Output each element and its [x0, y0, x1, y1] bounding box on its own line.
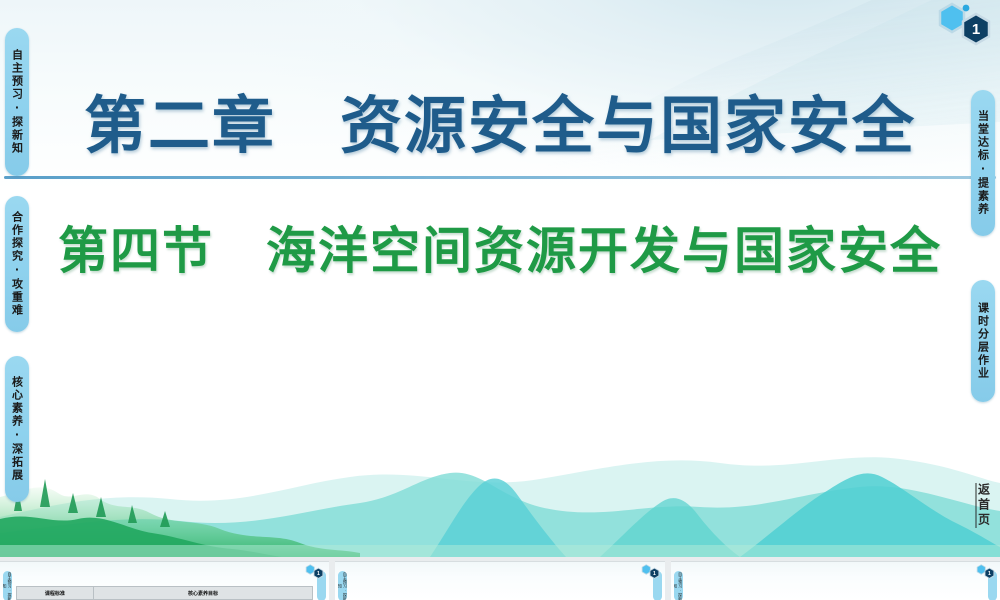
slide-thumbnail[interactable]: 自主预习·探新知 1 课程标准 核心素养目标: [0, 561, 329, 600]
thumb-sidebar-tab: 自主预习·探新知: [338, 571, 347, 600]
thumb-table-header-1: 课程标准: [17, 587, 94, 599]
thumb-sidebar-label: 自主预习·探新知: [338, 571, 347, 600]
sidebar-item-label: 合作探究·攻重难: [11, 211, 24, 317]
sidebar-item-label: 核心素养·深拓展: [11, 376, 24, 482]
slide-number-hex-badge: 1: [932, 2, 994, 46]
thumb-sidebar-tab: 自主预习·探新知: [3, 571, 12, 600]
slide-thumbnail[interactable]: 自主预习·探新知 1: [671, 561, 1000, 600]
thumb-table-header-2: 核心素养目标: [94, 587, 313, 599]
sidebar-item-homework[interactable]: 课时分层作业: [971, 280, 995, 402]
sidebar-item-preview[interactable]: 自主预习·探新知: [5, 28, 29, 176]
thumb-slide-number: 1: [317, 571, 320, 577]
slide-number-text: 1: [972, 21, 980, 38]
next-slide-strip: 自主预习·探新知 1 课程标准 核心素养目标 自主预习·探新知 1: [0, 557, 1000, 600]
sidebar-item-label: 当堂达标·提素养: [977, 110, 990, 216]
thumb-hex-badge: 1: [974, 564, 996, 579]
slide-thumbnail[interactable]: 自主预习·探新知 1: [335, 561, 664, 600]
thumb-sidebar-tab: 自主预习·探新知: [674, 571, 683, 600]
sidebar-item-inquiry[interactable]: 合作探究·攻重难: [5, 196, 29, 332]
thumb-hex-badge: 1: [303, 564, 325, 579]
thumb-table: 课程标准 核心素养目标: [16, 586, 313, 600]
sidebar-item-literacy[interactable]: 核心素养·深拓展: [5, 356, 29, 502]
watercolor-mountain-footer: [0, 407, 1000, 557]
current-slide: 1 第二章 资源安全与国家安全 第四节 海洋空间资源开发与国家安全: [0, 0, 1000, 557]
thumb-sidebar-label: 自主预习·探新知: [3, 571, 12, 600]
back-to-home-link[interactable]: 返首页: [971, 470, 995, 540]
back-to-home-label: 返首页: [977, 483, 990, 528]
thumb-slide-number: 1: [653, 571, 656, 577]
thumb-hex-badge: 1: [639, 564, 661, 579]
thumb-sidebar-label: 自主预习·探新知: [674, 571, 683, 600]
presentation-viewer: 1 第二章 资源安全与国家安全 第四节 海洋空间资源开发与国家安全: [0, 0, 1000, 600]
sidebar-item-label: 自主预习·探新知: [11, 49, 24, 155]
sidebar-item-assessment[interactable]: 当堂达标·提素养: [971, 90, 995, 236]
title-divider: [4, 176, 996, 179]
chapter-title: 第二章 资源安全与国家安全: [0, 86, 1000, 166]
thumb-slide-number: 1: [988, 571, 991, 577]
sidebar-item-label: 课时分层作业: [977, 302, 990, 380]
section-title: 第四节 海洋空间资源开发与国家安全: [0, 218, 1000, 284]
